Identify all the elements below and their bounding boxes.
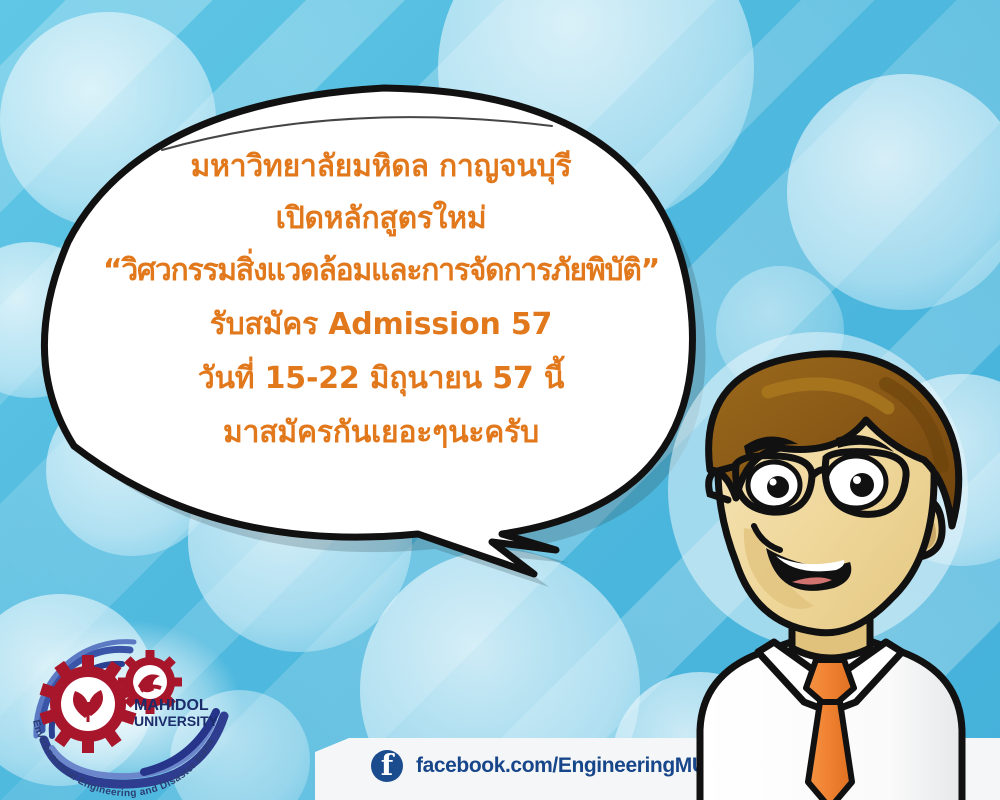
announcement-line-4: รับสมัคร Admission 57 (98, 286, 664, 340)
announcement-line-5: วันที่ 15-22 มิถุนายน 57 นี้ (98, 340, 664, 394)
logo-university-name: MAHIDOL UNIVERSITY (134, 697, 219, 729)
announcement-speech-bubble: มหาวิทยาลัยมหิดล กาญจนบุรี เปิดหลักสูตรใ… (40, 78, 720, 598)
announcement-line-1: มหาวิทยาลัยมหิดล กาญจนบุรี (98, 136, 664, 182)
announcement-text-block: มหาวิทยาลัยมหิดล กาญจนบุรี เปิดหลักสูตรใ… (98, 136, 664, 448)
facebook-icon[interactable] (371, 750, 403, 782)
mahidol-university-logo: MAHIDOL UNIVERSITY Environmental Enginee… (18, 620, 248, 795)
announcement-line-2: เปิดหลักสูตรใหม่ (98, 182, 664, 234)
announcement-line-3: “วิศวกรรมสิ่งแวดล้อมและการจัดการภัยพิบัต… (98, 234, 664, 286)
cartoon-student-character (640, 330, 1000, 800)
logo-name-line1: MAHIDOL (134, 697, 209, 714)
announcement-line-6: มาสมัครกันเยอะๆนะครับ (98, 394, 664, 448)
poster-canvas: มหาวิทยาลัยมหิดล กาญจนบุรี เปิดหลักสูตรใ… (0, 0, 1000, 800)
logo-name-line2: UNIVERSITY (134, 713, 219, 729)
